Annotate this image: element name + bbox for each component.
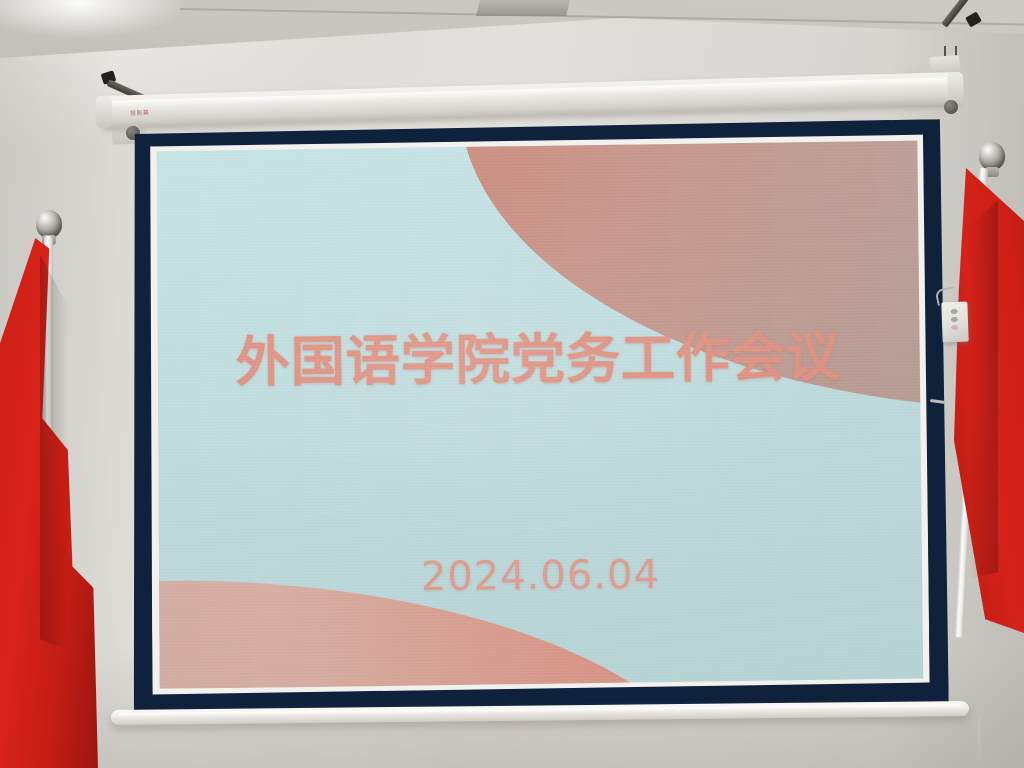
projected-slide[interactable]: 外国语学院党务工作会议 2024.06.04 [154,141,923,689]
panel-button-up[interactable] [951,309,958,314]
room-photo-scene: 投影幕 外国语学院党务工作会议 2024.06.04 [0,0,1024,768]
screen-control-panel[interactable] [941,302,968,343]
ceiling-light-glare [0,0,190,40]
weight-bar-side-drop [978,718,981,768]
roller-endcap-left [96,96,113,128]
flagpole-finial-left [36,210,62,238]
slide-date: 2024.06.04 [158,549,922,602]
ceiling-light-fixture [476,0,570,16]
roller-pivot-knob-right [944,100,958,114]
projection-screen[interactable]: 外国语学院党务工作会议 2024.06.04 [128,119,949,719]
panel-button-stop[interactable] [951,317,958,322]
panel-button-down[interactable] [951,325,958,330]
roller-brand-label: 投影幕 [130,108,149,118]
flagpole-finial-right [979,142,1005,170]
slide-title: 外国语学院党务工作会议 [156,311,920,397]
